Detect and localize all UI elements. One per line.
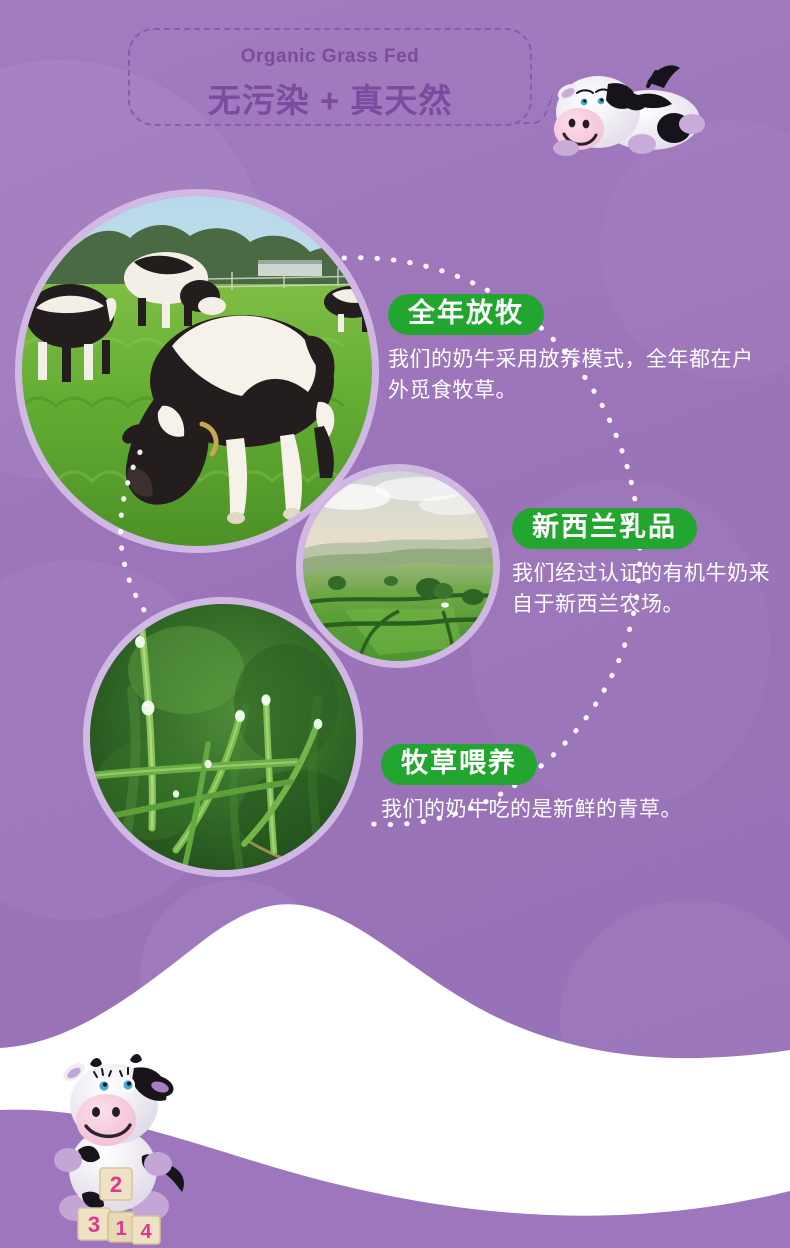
cow-mascot-lying <box>546 52 710 168</box>
feature-description: 我们经过认证的有机牛奶来自于新西兰农场。 <box>512 559 784 620</box>
feature-year-round-grazing: 全年放牧 我们的奶牛采用放养模式，全年都在户外觅食牧草。 <box>388 294 768 406</box>
feature-badge: 牧草喂养 <box>381 744 537 785</box>
block-number: 1 <box>115 1218 126 1240</box>
photo-newzealand-farmland <box>303 471 493 661</box>
header-english-tagline: Organic Grass Fed <box>128 46 532 68</box>
promo-page: Organic Grass Fed 无污染 + 真天然 <box>0 0 790 1248</box>
feature-newzealand-dairy: 新西兰乳品 我们经过认证的有机牛奶来自于新西兰农场。 <box>512 508 784 620</box>
cow-mascot-sitting: 2 3 1 4 <box>38 1046 198 1246</box>
block-number: 4 <box>140 1221 152 1243</box>
photo-cows-grazing <box>22 196 372 546</box>
block-number: 2 <box>110 1172 122 1197</box>
feature-grass-fed: 牧草喂养 我们的奶牛吃的是新鲜的青草。 <box>381 744 682 826</box>
block-number: 3 <box>88 1212 100 1237</box>
photo-dewy-grass <box>90 604 356 870</box>
feature-description: 我们的奶牛吃的是新鲜的青草。 <box>381 795 682 825</box>
header-chinese-tagline: 无污染 + 真天然 <box>128 74 532 122</box>
feature-badge: 新西兰乳品 <box>512 508 697 549</box>
feature-badge: 全年放牧 <box>388 294 544 335</box>
feature-description: 我们的奶牛采用放养模式，全年都在户外觅食牧草。 <box>388 345 768 406</box>
